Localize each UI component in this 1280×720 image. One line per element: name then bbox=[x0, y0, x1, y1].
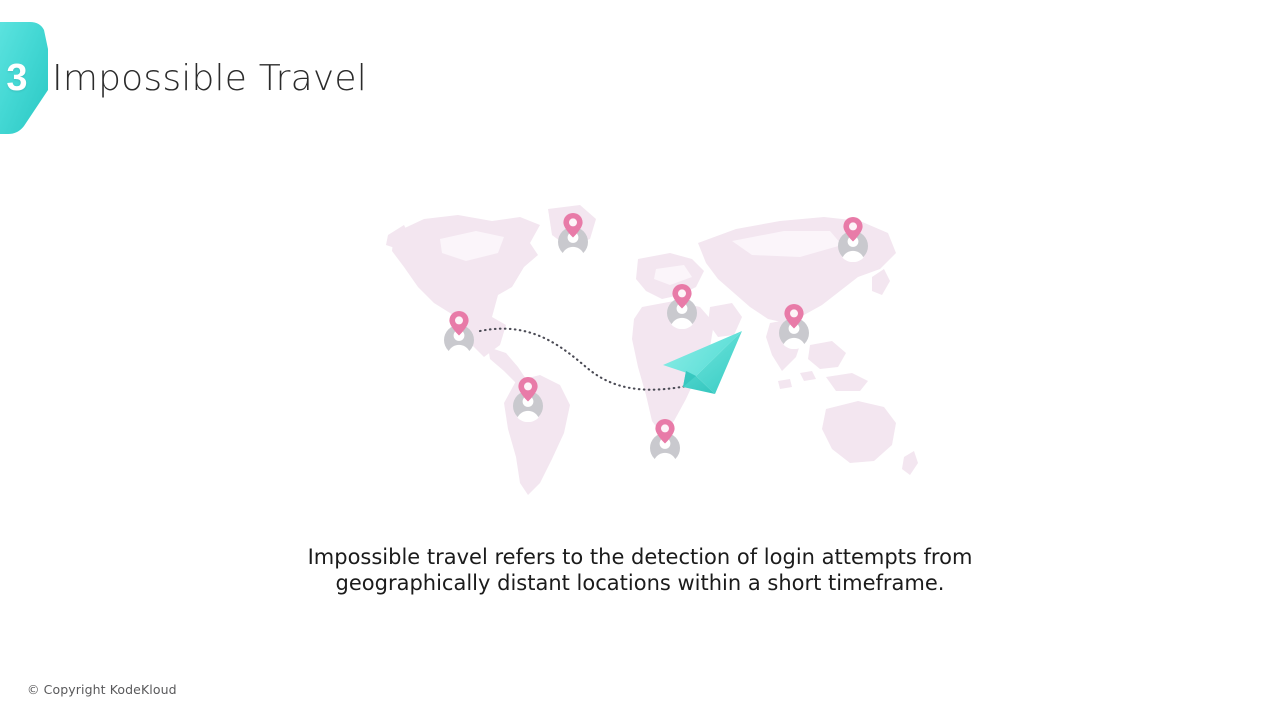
copyright-footer: © Copyright KodeKloud bbox=[27, 682, 177, 697]
slide-header: 3 Impossible Travel bbox=[0, 22, 367, 134]
step-badge: 3 bbox=[0, 22, 48, 134]
marker-africa[interactable] bbox=[650, 419, 680, 464]
illustration-world-map bbox=[380, 195, 920, 520]
page-title: Impossible Travel bbox=[52, 58, 367, 99]
step-number: 3 bbox=[0, 22, 34, 134]
world-map-svg bbox=[380, 195, 920, 520]
slide-root: 3 Impossible Travel bbox=[0, 0, 1280, 720]
slide-caption: Impossible travel refers to the detectio… bbox=[240, 545, 1040, 597]
